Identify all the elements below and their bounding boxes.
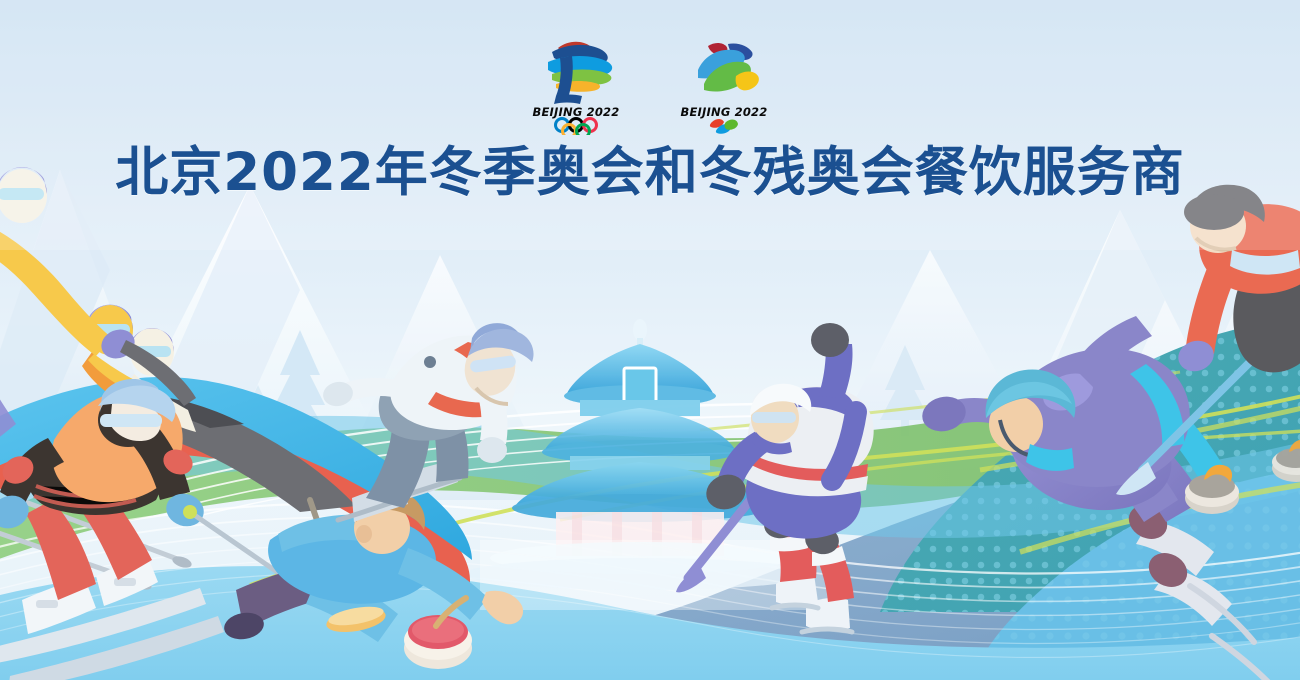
emblem-row: BEIJING 2022 BEI (0, 30, 1300, 140)
olympic-wordmark: BEIJING 2022 (533, 105, 620, 119)
beijing-2022-banner: BEIJING 2022 BEI (0, 0, 1300, 680)
paralympic-ribbon-mark (698, 43, 759, 92)
athlete-curler-blue (222, 490, 523, 669)
olympic-ribbon-mark (548, 42, 612, 104)
olympic-emblem: BEIJING 2022 (526, 30, 626, 135)
curling-stone-orange-2 (1272, 440, 1300, 482)
paralympic-emblem: BEIJING 2022 (674, 30, 774, 135)
paralympic-wordmark: BEIJING 2022 (681, 105, 768, 119)
olympic-emblem-graphic: BEIJING 2022 (526, 30, 626, 135)
speed-skates (1136, 520, 1268, 680)
title-container: 北京2022年冬季奥会和冬残奥会餐饮服务商 (0, 143, 1300, 202)
olympic-rings (556, 119, 597, 136)
paralympic-emblem-graphic: BEIJING 2022 (674, 30, 774, 135)
page-title: 北京2022年冬季奥会和冬残奥会餐饮服务商 (0, 143, 1300, 202)
athlete-ice-hockey-player (676, 323, 874, 632)
paralympic-agitos (710, 119, 738, 134)
curling-stone-orange (1185, 465, 1239, 514)
